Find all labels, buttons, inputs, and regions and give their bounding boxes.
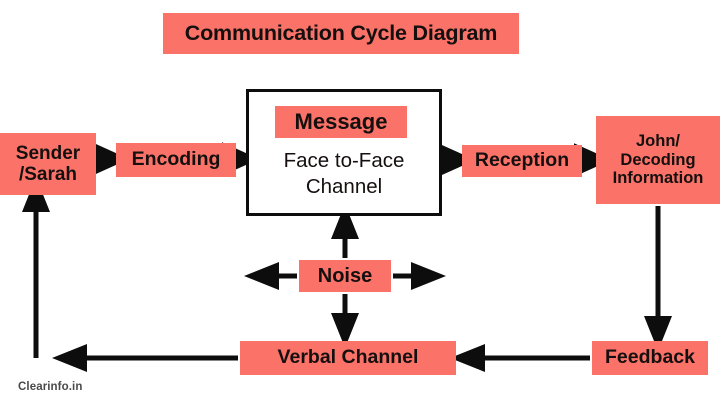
node-noise: Noise (299, 260, 391, 292)
node-sender: Sender /Sarah (0, 133, 96, 195)
communication-cycle-diagram: Communication Cycle Diagram Sender /Sara… (0, 0, 720, 404)
node-reception: Reception (462, 145, 582, 177)
watermark: Clearinfo.in (18, 381, 82, 393)
node-channel-label: Face to-Face Channel (250, 148, 438, 199)
node-message: Message (275, 106, 407, 138)
node-feedback: Feedback (592, 341, 708, 375)
node-encoding: Encoding (116, 143, 236, 177)
node-verbal-channel: Verbal Channel (240, 341, 456, 375)
diagram-title: Communication Cycle Diagram (163, 13, 519, 54)
node-decoder: John/ Decoding Information (596, 116, 720, 204)
arrow-verbal-to-sender (36, 195, 238, 358)
